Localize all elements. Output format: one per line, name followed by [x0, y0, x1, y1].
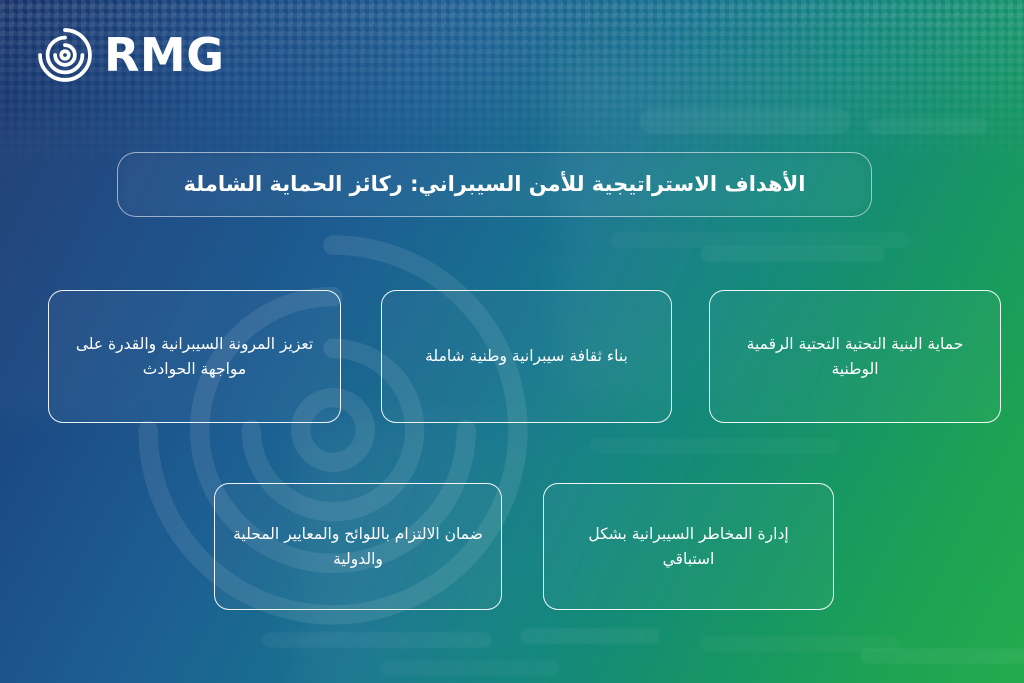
brand-name: RMG — [104, 32, 224, 78]
objective-card-2[interactable]: بناء ثقافة سيبرانية وطنية شاملة — [381, 290, 672, 423]
rmg-spiral-icon — [36, 26, 94, 84]
objective-card-4[interactable]: ضمان الالتزام باللوائح والمعايير المحلية… — [214, 483, 502, 610]
infographic-canvas: RMG الأهداف الاستراتيجية للأمن السيبراني… — [0, 0, 1024, 683]
title-banner: الأهداف الاستراتيجية للأمن السيبراني: رك… — [117, 152, 872, 217]
objective-card-3[interactable]: حماية البنية التحتية التحتية الرقمية الو… — [709, 290, 1001, 423]
objective-card-5-label: إدارة المخاطر السيبرانية بشكل استباقي — [562, 522, 815, 570]
objective-card-5[interactable]: إدارة المخاطر السيبرانية بشكل استباقي — [543, 483, 834, 610]
brand-logo: RMG — [36, 26, 224, 84]
objective-card-3-label: حماية البنية التحتية التحتية الرقمية الو… — [728, 332, 982, 380]
objective-card-4-label: ضمان الالتزام باللوائح والمعايير المحلية… — [233, 522, 483, 570]
objective-card-2-label: بناء ثقافة سيبرانية وطنية شاملة — [400, 344, 653, 368]
objective-card-1-label: تعزيز المرونة السيبرانية والقدرة على موا… — [67, 332, 322, 380]
page-title: الأهداف الاستراتيجية للأمن السيبراني: رك… — [168, 171, 822, 198]
objective-card-1[interactable]: تعزيز المرونة السيبرانية والقدرة على موا… — [48, 290, 341, 423]
